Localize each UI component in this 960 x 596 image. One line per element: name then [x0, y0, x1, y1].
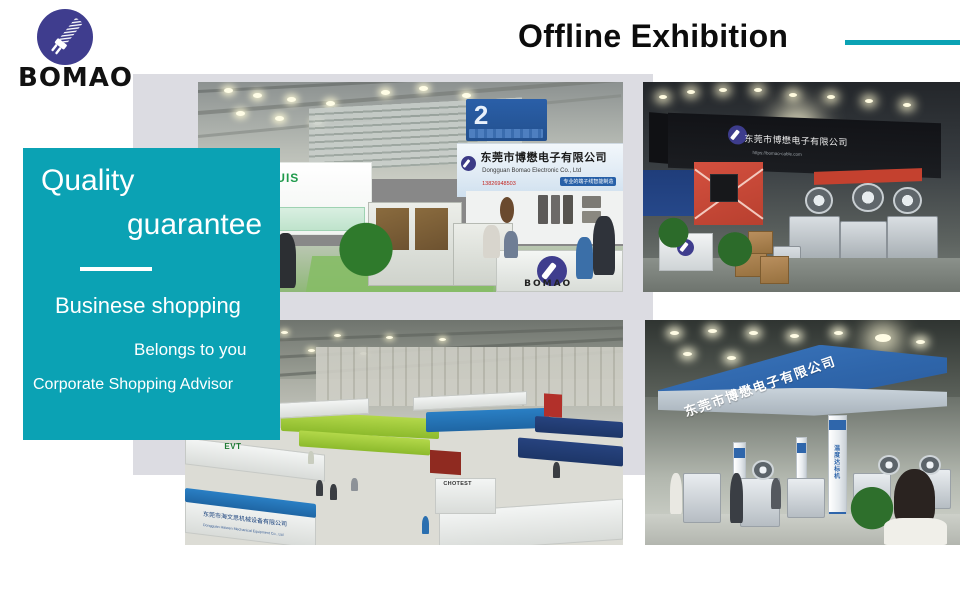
- page-title: Offline Exhibition: [518, 18, 788, 55]
- ceiling-lamp: [708, 329, 717, 333]
- pillar-band: [797, 443, 806, 453]
- visitor-person: [593, 216, 614, 275]
- photo-bottom-right-scene: 东莞市博懋电子有限公司 温度达标机: [645, 320, 960, 545]
- card-divider: [80, 267, 152, 271]
- potted-plant: [716, 225, 754, 280]
- ceiling-lamp: [727, 356, 736, 360]
- card-line-advisor: Corporate Shopping Advisor: [33, 376, 233, 394]
- banner-company-en: Dongguan Bomao Electronic Co., Ltd: [482, 168, 581, 174]
- banner-logo-icon: [461, 156, 476, 171]
- ceiling-lamp: [275, 116, 284, 121]
- banner-phone: 13826948503: [482, 181, 516, 187]
- visitor-person: [422, 516, 430, 534]
- ceiling-lamp: [865, 99, 873, 103]
- staff-person: [504, 231, 518, 258]
- wire-reel: [752, 460, 774, 480]
- ceiling-lamp: [790, 334, 799, 338]
- pillar-band: [829, 420, 846, 430]
- product-item: [563, 195, 572, 224]
- ceiling-lamp: [659, 95, 667, 99]
- visitor-person: [730, 473, 743, 523]
- photo-top-right[interactable]: 东莞市博懋电子有限公司 https://bomao-cable.com: [643, 82, 960, 292]
- hall-sign-subtext: [469, 129, 543, 138]
- wire-reel: [893, 187, 922, 214]
- brand-wordmark: BOMAO: [18, 66, 138, 90]
- booth-red-banner: [544, 394, 562, 418]
- banner-tagline: 专业的端子线智能制造: [560, 177, 616, 186]
- title-rule: [845, 40, 960, 45]
- visitor-person: [670, 473, 681, 514]
- booth-label-evt: EVT: [224, 442, 241, 451]
- visitor-person: [553, 462, 560, 478]
- pillar-band: [734, 448, 745, 458]
- visitor-person: [330, 484, 337, 500]
- ceiling-lamp: [334, 334, 341, 337]
- ceiling-lamp: [683, 352, 692, 356]
- ceiling-lamp: [903, 103, 911, 107]
- hall-number-value: 2: [474, 100, 488, 131]
- foreground-visitor-body: [884, 518, 947, 545]
- product-item: [500, 197, 514, 222]
- machine-window: [415, 208, 448, 251]
- photo-top-right-scene: 东莞市博懋电子有限公司 https://bomao-cable.com: [643, 82, 960, 292]
- cardboard-box: [760, 256, 789, 283]
- quality-guarantee-card: Quality guarantee Businese shopping Belo…: [23, 148, 280, 440]
- machine-unit: [683, 473, 721, 523]
- staff-person: [483, 225, 500, 259]
- counter-wordmark: BOMAO: [524, 279, 572, 289]
- ceiling-lamp: [789, 93, 797, 97]
- card-line-quality: Quality: [41, 164, 134, 198]
- product-item: [582, 196, 601, 208]
- ceiling-lamp: [386, 336, 393, 339]
- photo-bottom-right[interactable]: 东莞市博懋电子有限公司 温度达标机: [645, 320, 960, 545]
- ceiling-lamp: [827, 95, 835, 99]
- bomao-lamp-logo-icon: [36, 8, 94, 66]
- hall-number-sign: 2: [466, 99, 547, 141]
- wall-monitor: [710, 174, 739, 201]
- booth-company-cn: 东莞市博懋电子有限公司: [745, 132, 848, 149]
- visitor-person: [316, 480, 323, 496]
- ceiling-lamp: [439, 338, 446, 341]
- ceiling-lamp: [253, 93, 262, 98]
- visitor-person: [771, 478, 781, 510]
- ceiling-lamp: [326, 101, 335, 106]
- product-item: [551, 195, 560, 224]
- visitor-person: [308, 451, 314, 465]
- wire-reel: [852, 183, 884, 212]
- brand-logo: BOMAO: [18, 8, 138, 86]
- ceiling-lamp-bright: [875, 334, 891, 342]
- pillar-label-cn: 温度达标机: [833, 445, 841, 480]
- booth-label-chotest: CHOTEST: [443, 481, 471, 487]
- product-item: [538, 195, 547, 224]
- card-line-business: Businese shopping: [55, 293, 241, 319]
- visitor-person: [576, 237, 593, 279]
- booth-url: https://bomao-cable.com: [753, 150, 802, 157]
- booth-banner: 东莞市博懋电子有限公司 Dongguan Bomao Electronic Co…: [457, 143, 623, 198]
- card-line-belongs: Belongs to you: [134, 340, 246, 360]
- banner-company-cn: 东莞市博懋电子有限公司: [480, 149, 607, 165]
- neighbor-blue-booth: [643, 170, 694, 216]
- red-fabric: [430, 449, 461, 474]
- card-line-guarantee: guarantee: [127, 208, 262, 242]
- machine-unit: [787, 478, 825, 519]
- potted-plant: [656, 212, 691, 258]
- potted-plant: [326, 221, 407, 292]
- ceiling-lamp: [462, 93, 471, 98]
- slide-root: BOMAO Offline Exhibition 2: [0, 0, 960, 596]
- ceiling-lamp: [287, 97, 296, 102]
- visitor-person: [351, 478, 358, 492]
